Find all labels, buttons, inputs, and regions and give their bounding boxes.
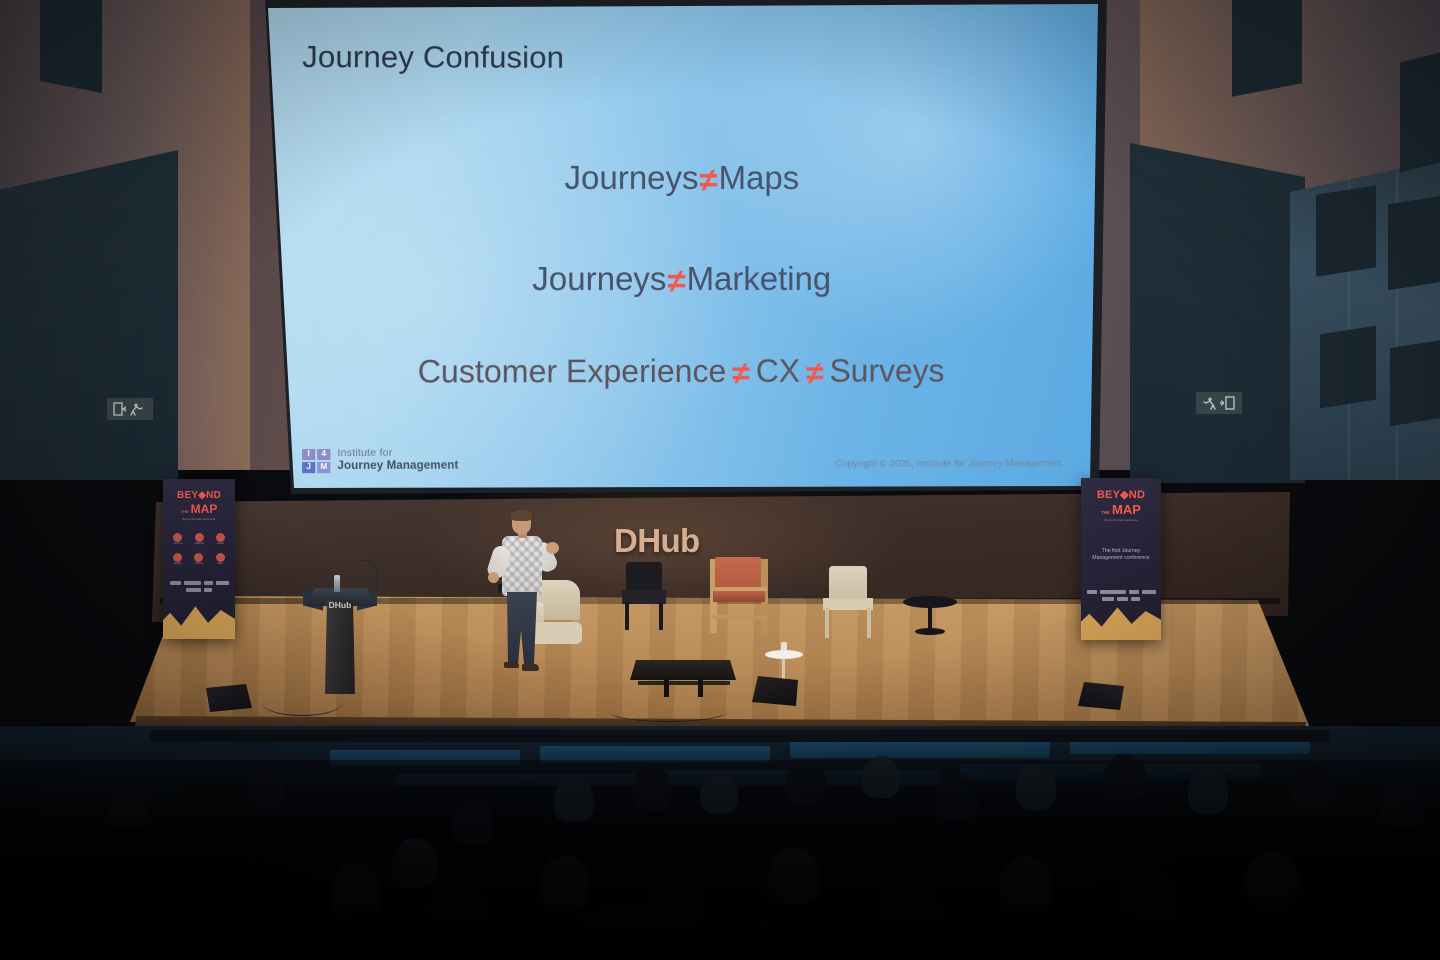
ijm-logo-line2: Journey Management (337, 460, 458, 473)
ijm-logo: I 4 J M Institute for Journey Management (302, 448, 458, 473)
ceiling-baffle (1232, 0, 1302, 97)
logo-cell-i: I (302, 449, 315, 460)
slide-title: Journey Confusion (302, 39, 564, 76)
star-icon (194, 553, 203, 562)
presenter-hair (511, 510, 532, 521)
terracotta-armchair (709, 557, 769, 633)
stage-wedge-speaker-left (206, 684, 252, 712)
logo-cell-m: M (317, 462, 330, 473)
banner-left-icon-row: Journeys Mapping Insight (163, 533, 235, 545)
auditorium-scene: Journey Confusion Journeys≠Maps Journeys… (0, 0, 1440, 960)
banner-left-the: THE (181, 509, 189, 514)
presenter-shoe (504, 662, 519, 668)
ijm-logo-line1: Institute for (337, 448, 458, 460)
presenter-left-hand (488, 572, 499, 583)
ijm-logo-grid: I 4 J M (302, 449, 330, 473)
ijm-logo-wordmark: Institute for Journey Management (337, 448, 458, 473)
banner-left-title: BEY◆ND (163, 491, 235, 501)
statement-1-left: Journeys (564, 159, 698, 196)
ceiling-baffle (1400, 48, 1440, 173)
banner-left-beyond-the-map: BEY◆ND THE MAP Beyond the Map Conference… (163, 479, 235, 639)
slide-copyright: Copyright © 2025, Institute for Journey … (835, 458, 1062, 470)
lectern-brand: DHub (325, 600, 355, 610)
presenter-shoe (522, 664, 539, 671)
banner-right-body: The first Journey Management conference (1081, 548, 1161, 562)
confidence-monitor (630, 660, 736, 698)
banner-left-sponsor-logos (163, 581, 235, 592)
slide-statement-2: Journeys≠Marketing (264, 260, 1098, 298)
banner-right-map: MAP (1112, 502, 1141, 517)
banner-right-beyond-the-map: BEY◆ND THE MAP Beyond the Map Conference… (1081, 478, 1161, 640)
stage-speaker-monitor (752, 676, 798, 706)
ceiling-baffle (40, 0, 102, 93)
emergency-exit-icon-right (1196, 392, 1242, 414)
round-side-table (903, 596, 957, 640)
venue-wordmark: DHub (614, 522, 700, 560)
burst-icon (216, 553, 225, 562)
banner-mountain-graphic (163, 599, 235, 639)
dark-chair (622, 562, 666, 630)
statement-2-right: Marketing (687, 260, 832, 297)
banner-right-subtitle: Beyond the Map Conference (1081, 519, 1161, 522)
banner-mountain-graphic (1081, 600, 1161, 640)
logo-cell-j: J (302, 462, 315, 473)
microphone-stand (355, 560, 377, 592)
stage-cable (262, 690, 342, 716)
slide-statement-1: Journeys≠Maps (264, 158, 1098, 197)
presenter-badge (498, 584, 502, 593)
logo-cell-4: 4 (317, 449, 330, 460)
presenter-legs (505, 592, 539, 664)
lectern (325, 600, 355, 694)
stage-cable (608, 700, 728, 722)
banner-right-title: BEY◆ND (1081, 490, 1161, 501)
stage-wedge-speaker-right (1078, 682, 1124, 710)
left-wall-dark-panel (0, 150, 178, 480)
banner-right-sponsor-logos (1081, 590, 1161, 601)
banner-left-map: MAP (191, 502, 218, 516)
sun-icon (173, 533, 182, 542)
cream-chair (822, 566, 874, 640)
not-equal-icon: ≠ (800, 355, 829, 392)
presenter-torso (502, 536, 542, 596)
acoustic-panel (1388, 196, 1440, 291)
presentation-slide[interactable]: Journey Confusion Journeys≠Maps Journeys… (264, 2, 1100, 490)
acoustic-panel (1316, 185, 1376, 277)
network-icon (195, 533, 204, 542)
presenter (480, 512, 566, 682)
emergency-exit-icon-left (107, 398, 153, 420)
acoustic-panel (1320, 326, 1376, 409)
right-wall-dark-panel (1130, 143, 1305, 483)
presenter-right-hand (546, 542, 559, 554)
statement-3-left: Customer Experience (418, 353, 727, 390)
slide-statement-3: Customer Experience≠CX≠Surveys (264, 352, 1098, 390)
not-equal-icon: ≠ (699, 161, 719, 199)
statement-2-left: Journeys (532, 260, 666, 297)
square-icon (216, 533, 225, 542)
statement-1-right: Maps (719, 159, 800, 196)
gear-icon (173, 553, 182, 562)
audience (0, 760, 1440, 960)
statement-3-right: Surveys (830, 353, 945, 389)
banner-right-the: THE (1101, 510, 1110, 515)
acoustic-panel (1390, 340, 1440, 426)
water-bottle (334, 575, 340, 592)
not-equal-icon: ≠ (726, 355, 756, 392)
banner-left-subtitle: Beyond the Map Conference (163, 518, 235, 521)
banner-left-icon-row-2: Design Delivery Value (163, 553, 235, 565)
not-equal-icon: ≠ (666, 262, 686, 300)
statement-3-mid: CX (756, 353, 800, 389)
